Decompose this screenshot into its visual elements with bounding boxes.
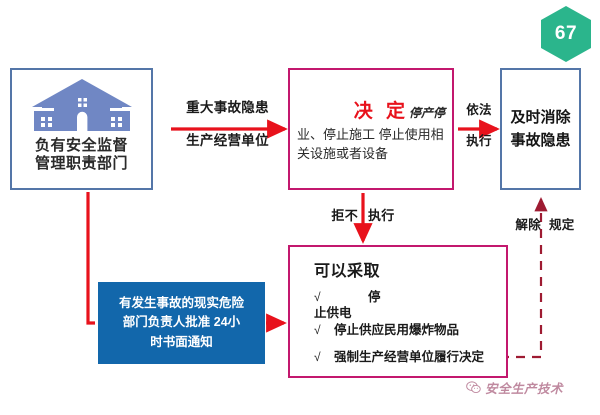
edge-label-refuse: 拒不: [322, 205, 358, 224]
node-eliminate-hazard: 及时消除 事故隐患: [500, 68, 581, 190]
node-written-notice: 有发生事故的现实危险 部门负责人批准 24小 时书面通知: [98, 282, 265, 364]
page-badge: 67: [541, 6, 591, 62]
watermark-text: 安全生产技术: [485, 378, 563, 397]
department-label: 负有安全监督 管理职责部门: [35, 137, 128, 172]
decision-headline: 决 定停产停: [297, 78, 445, 123]
notice-label: 有发生事故的现实危险 部门负责人批准 24小 时书面通知: [119, 294, 244, 352]
decision-keyword: 决 定: [354, 101, 409, 122]
measure-text: 强制生产经营单位履行决定: [334, 350, 484, 365]
page-number: 67: [541, 6, 591, 62]
eliminate-label: 及时消除 事故隐患: [510, 106, 570, 153]
edge-label-execute: 执行: [368, 205, 404, 224]
measure-row: √ 停: [314, 290, 498, 305]
check-icon: √: [314, 323, 323, 338]
node-measures: 可以采取 √ 停 止供电 √ 停止供应民用爆炸物品 √ 强制生产经营单位履行决定: [288, 245, 508, 378]
watermark: 安全生产技术: [466, 378, 563, 397]
flowchart-slide: 67 负有安全监督 管理职责部门 决 定停产停 业、停: [0, 0, 600, 415]
edge-label-hazard: 重大事故隐患 生产经营单位: [170, 91, 285, 157]
wechat-icon: [466, 380, 481, 395]
check-icon: √: [314, 290, 323, 305]
house-icon: [30, 77, 134, 135]
measure-row: √ 停止供应民用爆炸物品: [314, 323, 498, 338]
check-icon: √: [314, 350, 323, 365]
edge-label-lift: 解除: [503, 214, 541, 233]
node-decision: 决 定停产停 业、停止施工 停止使用相 关设施或者设备: [288, 68, 454, 190]
measure-text: 停: [368, 290, 381, 305]
edge-label-rule: 规定: [549, 214, 587, 233]
node-department: 负有安全监督 管理职责部门: [10, 68, 153, 190]
measures-title: 可以采取: [314, 257, 498, 281]
measure-text-continuation: 止供电: [314, 306, 498, 321]
measure-item: √ 停 止供电: [314, 290, 498, 322]
measure-row: √ 强制生产经营单位履行决定: [314, 350, 498, 365]
decision-keyword-tail: 停产停: [409, 106, 445, 120]
edge-label-lawful-execution: 依法 执行: [458, 95, 500, 156]
decision-body: 业、停止施工 停止使用相 关设施或者设备: [297, 126, 445, 164]
edge-dept-to-notice: [88, 192, 95, 323]
measure-text: 停止供应民用爆炸物品: [334, 323, 459, 338]
